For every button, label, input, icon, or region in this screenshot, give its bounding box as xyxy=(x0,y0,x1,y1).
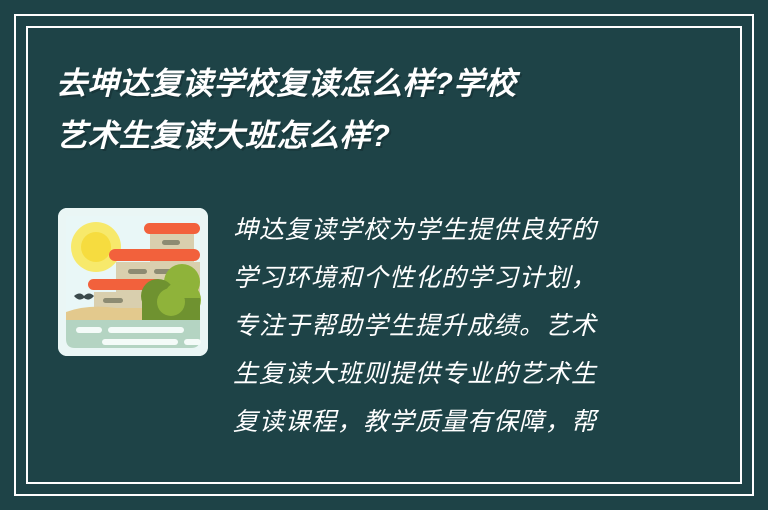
placeholder-bar-4 xyxy=(184,339,201,345)
poster-canvas: 去坤达复读学校复读怎么样?学校 艺术生复读大班怎么样? xyxy=(0,0,768,510)
building-middle-window-left xyxy=(128,269,147,274)
title-line-1: 去坤达复读学校复读怎么样?学校 xyxy=(56,58,696,110)
placeholder-bar-3 xyxy=(102,339,178,345)
body-paragraph: 坤达复读学校为学生提供良好的 学习环境和个性化的学习计划， 专注于帮助学生提升成… xyxy=(233,206,663,446)
body-line-3: 专注于帮助学生提升成绩。艺术 xyxy=(233,302,663,350)
building-middle-roof xyxy=(109,249,200,261)
placeholder-bar-2 xyxy=(108,327,184,333)
placeholder-bar-1 xyxy=(76,327,102,333)
bush-highlight xyxy=(157,288,185,316)
building-back-roof xyxy=(144,223,200,234)
building-front-window xyxy=(103,298,123,303)
illustration-svg xyxy=(58,208,208,356)
school-landscape-illustration xyxy=(58,208,208,356)
body-line-2: 学习环境和个性化的学习计划， xyxy=(233,254,663,302)
body-line-5: 复读课程，教学质量有保障，帮 xyxy=(233,398,663,446)
title-line-2: 艺术生复读大班怎么样? xyxy=(56,110,696,162)
building-back-window xyxy=(162,240,180,245)
body-line-1: 坤达复读学校为学生提供良好的 xyxy=(233,206,663,254)
sun-inner-icon xyxy=(81,232,111,262)
page-title: 去坤达复读学校复读怎么样?学校 艺术生复读大班怎么样? xyxy=(56,58,696,162)
body-line-4: 生复读大班则提供专业的艺术生 xyxy=(233,350,663,398)
